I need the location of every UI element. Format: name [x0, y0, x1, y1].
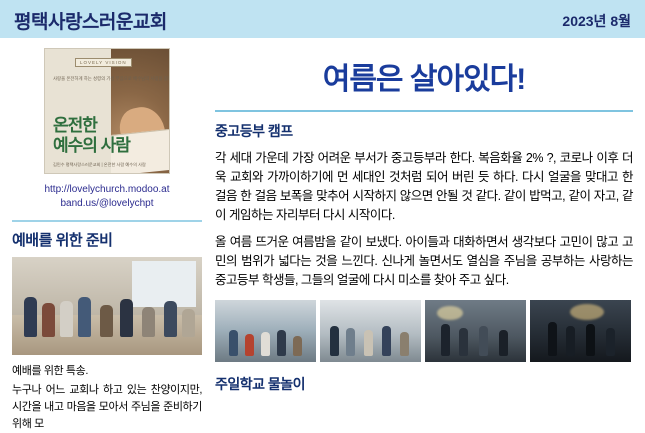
photo-person: [164, 301, 177, 337]
book-subtitle: 사랑을 온전하게 하는 성령의 기름 부음으로 예수님의 사람을 길러내는 온전…: [53, 75, 115, 82]
left-photo-caption: 예배를 위한 특송.: [12, 363, 202, 380]
book-footer-text: 김민수 평택사랑스러운교회 | 온전한 사람 예수의 사람: [53, 162, 146, 168]
photo-window: [132, 261, 196, 307]
photo-person: [60, 301, 73, 337]
issue-date: 2023년 8월: [562, 11, 631, 31]
section-heading-sundayschool: 주일학교 물놀이: [215, 374, 633, 394]
photo-person: [142, 307, 155, 337]
left-body-text: 누구나 어느 교회나 하고 있는 찬양이지만, 시간을 내고 마음을 모아서 주…: [12, 382, 202, 433]
section-heading-camp: 중고등부 캠프: [215, 121, 633, 141]
book-cover-image: LOVELY VISION 사랑을 온전하게 하는 성령의 기름 부음으로 예수…: [44, 48, 170, 174]
photo-person: [182, 309, 195, 337]
newsletter-page: 평택사랑스러운교회 2023년 8월 LOVELY VISION 사랑을 온전하…: [0, 0, 645, 415]
title-divider: [215, 110, 633, 112]
church-name: 평택사랑스러운교회: [14, 7, 167, 34]
camp-paragraph-1: 각 세대 가운데 가장 어려운 부서가 중고등부라 한다. 복음화율 2% ?,…: [215, 149, 633, 225]
photo-person: [78, 297, 91, 337]
camp-photo-4: [530, 300, 631, 362]
photo-person: [42, 303, 55, 337]
photo-person: [24, 297, 37, 337]
photo-person: [100, 305, 113, 337]
left-column: LOVELY VISION 사랑을 온전하게 하는 성령의 기름 부음으로 예수…: [12, 44, 202, 433]
camp-paragraph-2: 올 여름 뜨거운 여름밤을 같이 보냈다. 아이들과 대화하면서 생각보다 고민…: [215, 233, 633, 290]
worship-preparation-photo: [12, 257, 202, 355]
masthead-bar: 평택사랑스러운교회 2023년 8월: [0, 0, 645, 38]
band-url[interactable]: band.us/@lovelychpt: [12, 197, 202, 211]
book-title-line2: 예수의 사람: [53, 131, 130, 156]
left-section-heading: 예배를 위한 준비: [12, 229, 202, 250]
header-divider: [0, 38, 645, 41]
camp-photo-strip: [215, 300, 633, 362]
page-title: 여름은 살아있다!: [215, 54, 633, 98]
camp-photo-2: [320, 300, 421, 362]
camp-photo-1: [215, 300, 316, 362]
website-links: http://lovelychurch.modoo.at band.us/@lo…: [12, 183, 202, 211]
photo-person: [120, 299, 133, 337]
camp-photo-3: [425, 300, 526, 362]
right-column: 여름은 살아있다! 중고등부 캠프 각 세대 가운데 가장 어려운 부서가 중고…: [215, 44, 633, 394]
left-section-divider: [12, 220, 202, 222]
book-badge-label: LOVELY VISION: [75, 58, 132, 67]
website-url[interactable]: http://lovelychurch.modoo.at: [12, 183, 202, 197]
